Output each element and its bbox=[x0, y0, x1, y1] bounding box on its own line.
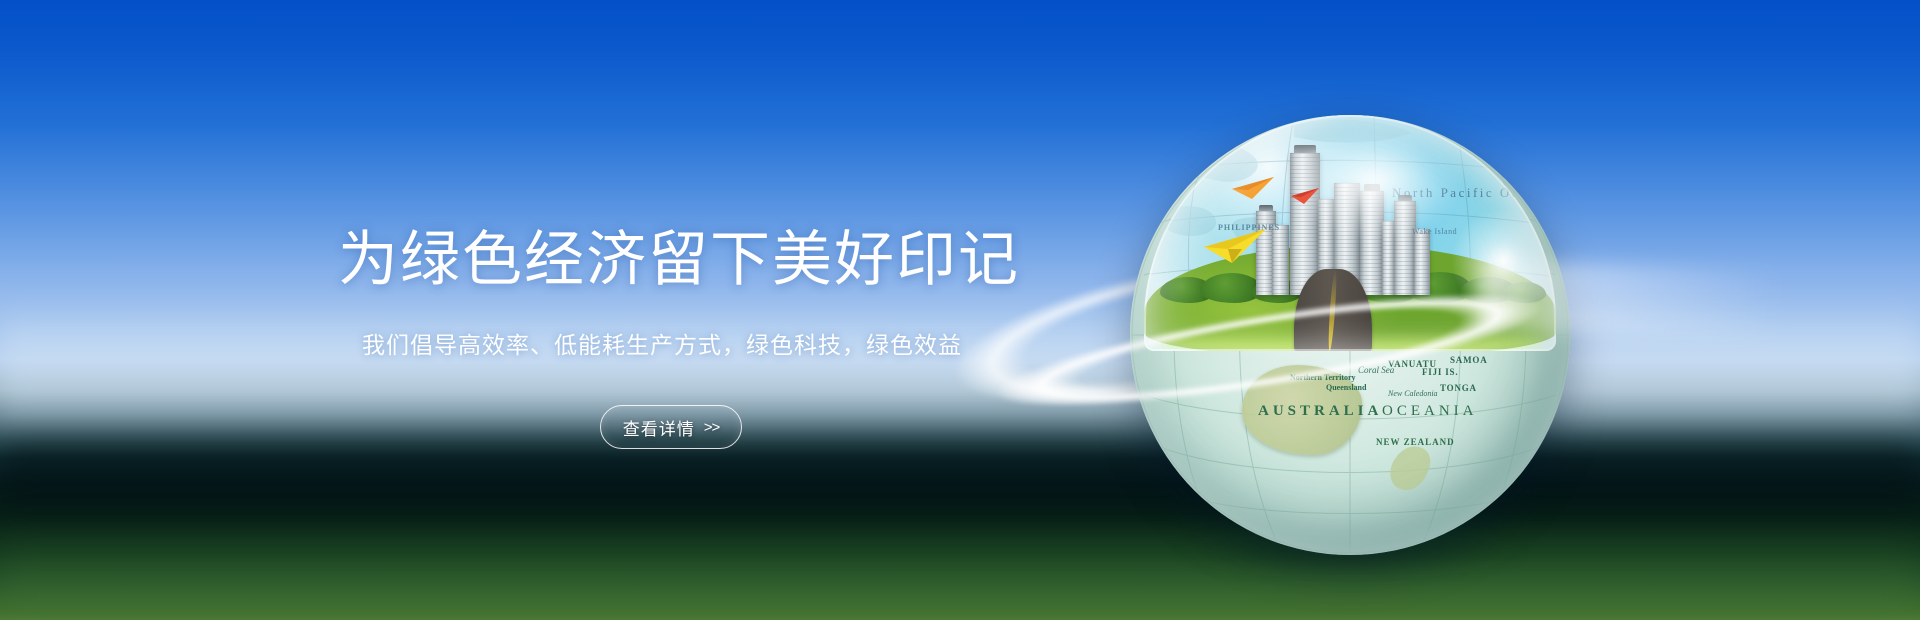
hero-banner: AUSTRALIA OCEANIA NEW ZEALAND PAPUA NEW … bbox=[0, 0, 1920, 620]
globe-glass-dome: PHILIPPINES North Pacific Ocean Wake Isl… bbox=[1144, 115, 1556, 351]
skyline-buildings bbox=[1256, 135, 1446, 295]
banner-headline: 为绿色经济留下美好印记 bbox=[338, 228, 1020, 292]
view-details-label: 查看详情 bbox=[623, 415, 695, 440]
banner-copy-block: 为绿色经济留下美好印记 我们倡导高效率、低能耗生产方式，绿色科技，绿色效益 查看… bbox=[0, 0, 1060, 620]
paper-plane-orange-icon bbox=[1230, 175, 1276, 201]
banner-subheadline: 我们倡导高效率、低能耗生产方式，绿色科技，绿色效益 bbox=[362, 330, 962, 360]
globe-illustration: AUSTRALIA OCEANIA NEW ZEALAND PAPUA NEW … bbox=[1130, 115, 1570, 560]
double-chevron-right-icon: >> bbox=[704, 419, 720, 436]
paper-plane-red-icon bbox=[1290, 187, 1320, 205]
dome-label-wake-island: Wake Island bbox=[1412, 227, 1457, 236]
paper-plane-yellow-icon bbox=[1202, 227, 1268, 265]
view-details-button[interactable]: 查看详情 >> bbox=[600, 405, 742, 449]
dome-label-north-pacific-ocean: North Pacific Ocean bbox=[1392, 185, 1546, 201]
